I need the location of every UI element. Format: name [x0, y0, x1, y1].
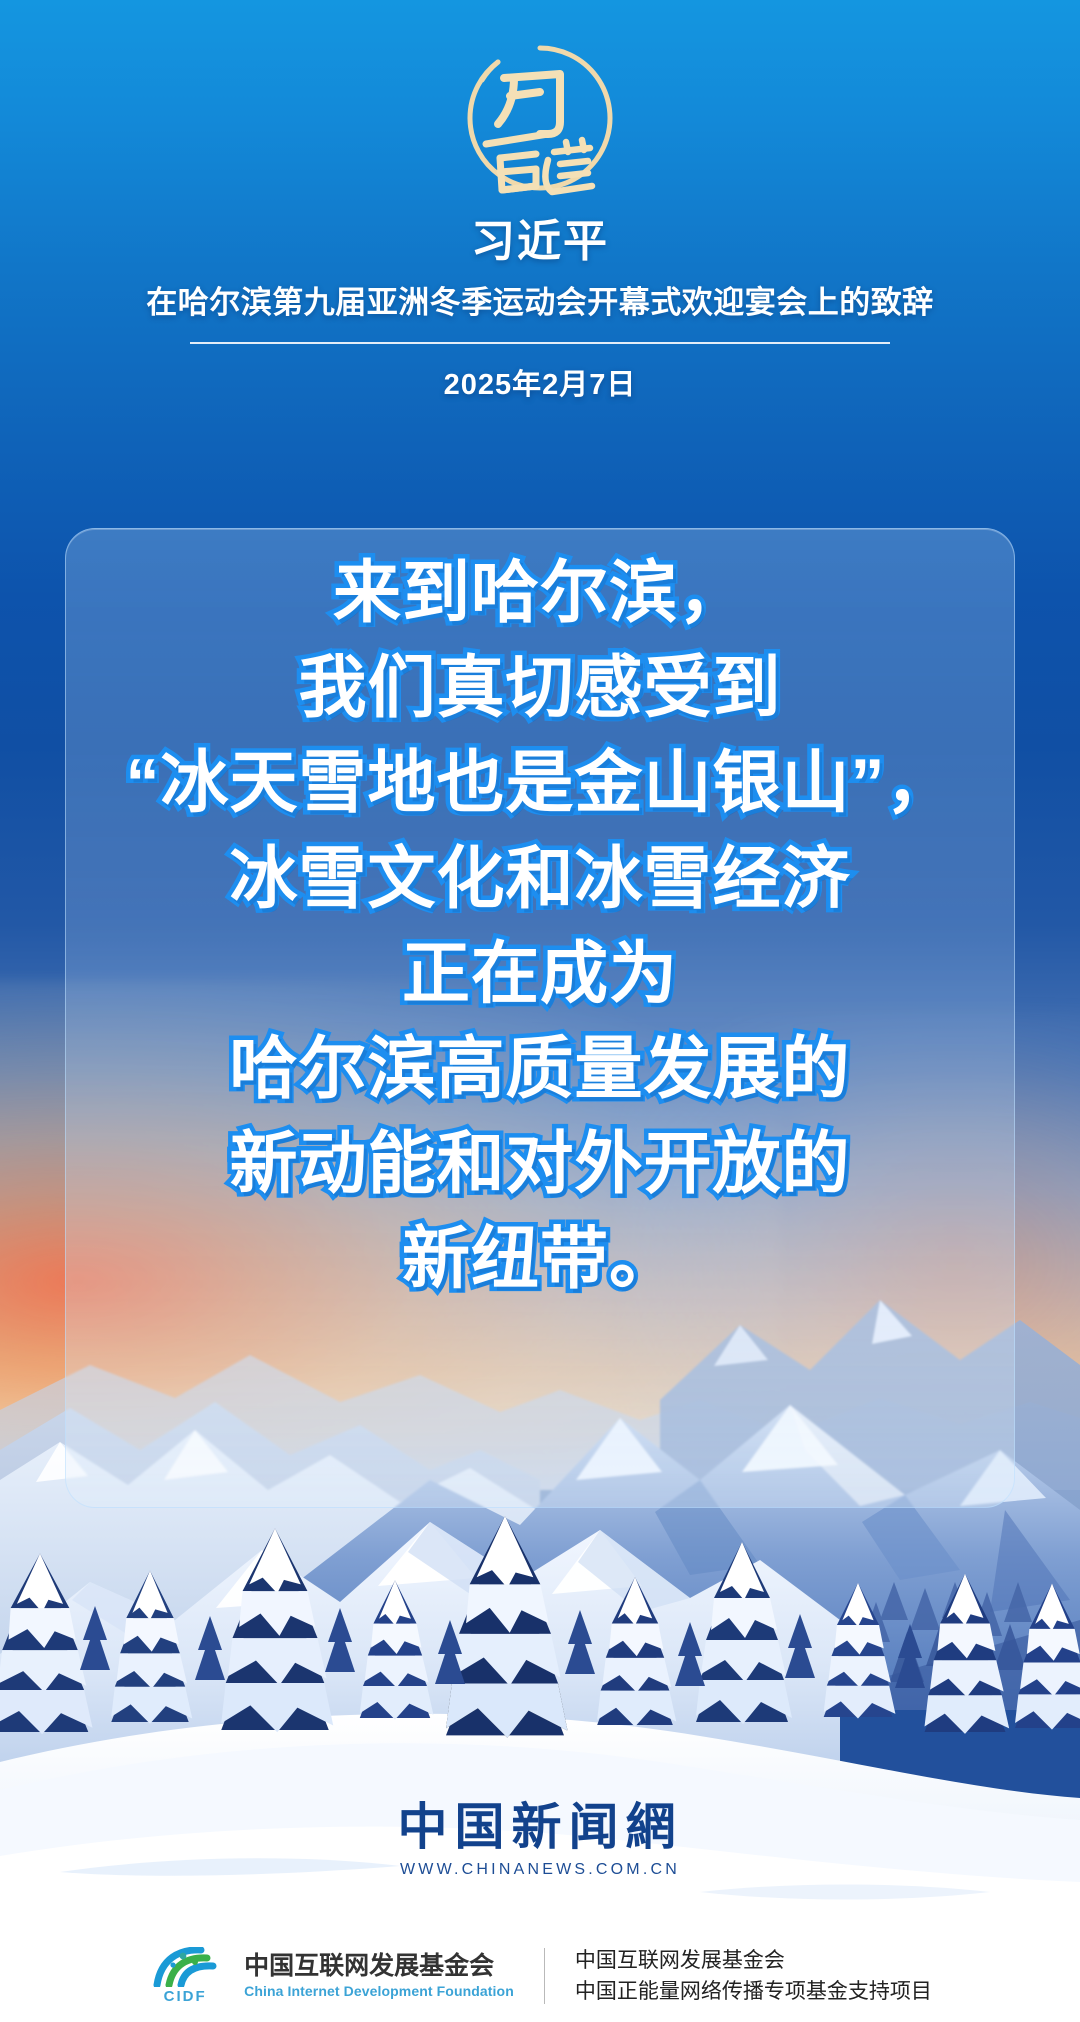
footer-bar: CIDF 中国互联网发展基金会 China Internet Developme… [0, 1930, 1080, 2022]
chinanews-url: WWW.CHINANEWS.COM.CN [0, 1861, 1080, 1879]
page-title: 习近平 [0, 214, 1080, 269]
seal-circle-icon [470, 48, 610, 188]
xiyandao-seal-logo [456, 34, 624, 202]
cidf-name-cn: 中国互联网发展基金会 [244, 1953, 514, 1981]
cidf-logo: CIDF [148, 1947, 222, 2005]
footer-sponsor-line: 中国互联网发展基金会 [575, 1949, 932, 1972]
cidf-arcs-icon [149, 1947, 221, 1987]
page-subtitle: 在哈尔滨第九届亚洲冬季运动会开幕式欢迎宴会上的致辞 [0, 283, 1080, 323]
chinanews-wordmark: 中国新闻網 [0, 1800, 1080, 1854]
quote-line: 哈尔滨高质量发展的 [65, 1022, 1015, 1117]
quote-text-block: 来到哈尔滨， 我们真切感受到 “冰天雪地也是金山银山”， 冰雪文化和冰雪经济 正… [65, 546, 1015, 1308]
cidf-name-en: China Internet Development Foundation [244, 1983, 514, 1999]
header-block: 习近平 在哈尔滨第九届亚洲冬季运动会开幕式欢迎宴会上的致辞 2025年2月7日 [0, 214, 1080, 403]
cidf-abbreviation: CIDF [164, 1988, 207, 2005]
header-divider [190, 342, 890, 344]
speech-date: 2025年2月7日 [0, 361, 1080, 403]
poster-root: 习近平 在哈尔滨第九届亚洲冬季运动会开幕式欢迎宴会上的致辞 2025年2月7日 … [0, 0, 1080, 2022]
footer-sponsor-lines: 中国互联网发展基金会 中国正能量网络传播专项基金支持项目 [575, 1949, 932, 2002]
chinanews-logo-block: 中国新闻網 WWW.CHINANEWS.COM.CN [0, 1800, 1080, 1879]
cidf-name-block: 中国互联网发展基金会 China Internet Development Fo… [244, 1953, 514, 2000]
quote-line: 新动能和对外开放的 [65, 1117, 1015, 1212]
quote-line: “冰天雪地也是金山银山”， [65, 736, 1015, 831]
quote-line: 我们真切感受到 [65, 641, 1015, 736]
quote-line: 来到哈尔滨， [65, 546, 1015, 641]
quote-line: 冰雪文化和冰雪经济 [65, 832, 1015, 927]
quote-line: 正在成为 [65, 927, 1015, 1022]
footer-sponsor-line: 中国正能量网络传播专项基金支持项目 [575, 1980, 932, 2003]
footer-divider [544, 1948, 545, 2004]
quote-line: 新纽带。 [65, 1212, 1015, 1307]
footer-content: CIDF 中国互联网发展基金会 China Internet Developme… [148, 1947, 932, 2005]
